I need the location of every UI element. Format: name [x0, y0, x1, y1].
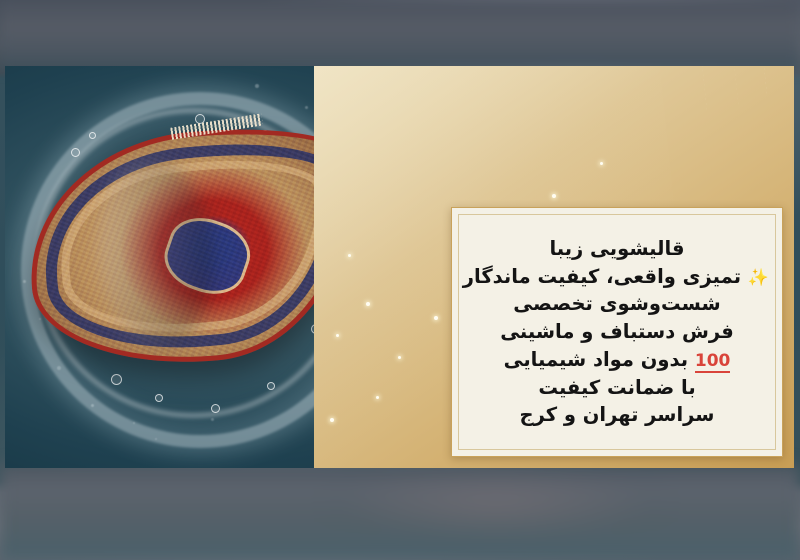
ad-guarantee-text: با ضمانت کیفیت: [538, 376, 695, 399]
ad-types-text: فرش دستباف و ماشینی: [500, 320, 734, 343]
ad-tagline-text: تمیزی واقعی، کیفیت ماندگار: [463, 265, 741, 288]
ad-line-tagline: ✨ تمیزی واقعی، کیفیت ماندگار: [465, 263, 769, 291]
ad-line-chemicals: 100 بدون مواد شیمیایی: [465, 346, 769, 374]
artwork-panel: قالیشویی زیبا ✨ تمیزی واقعی، کیفیت ماندگ…: [5, 66, 794, 468]
gold-sparkle: [600, 162, 603, 165]
gold-sparkle: [552, 194, 556, 198]
ad-line-guarantee: با ضمانت کیفیت: [465, 374, 769, 402]
advertisement-screenshot: قالیشویی زیبا ✨ تمیزی واقعی، کیفیت ماندگ…: [0, 0, 800, 560]
ad-line-coverage: سراسر تهران و کرج: [465, 401, 769, 429]
ad-line-service: شست‌وشوی تخصصی: [465, 290, 769, 318]
backdrop-bottom-band: [0, 464, 800, 560]
sparkles-icon: ✨: [748, 268, 769, 288]
hundred-points-icon: 100: [695, 351, 731, 373]
ad-line-headline: قالیشویی زیبا: [465, 235, 769, 263]
carpet-stage: [15, 74, 395, 464]
ad-text-card-inner-border: قالیشویی زیبا ✨ تمیزی واقعی، کیفیت ماندگ…: [458, 214, 776, 450]
ad-text-card: قالیشویی زیبا ✨ تمیزی واقعی، کیفیت ماندگ…: [451, 207, 783, 457]
ad-service-text: شست‌وشوی تخصصی: [513, 292, 720, 315]
ad-line-types: فرش دستباف و ماشینی: [465, 318, 769, 346]
ad-chemicals-text: بدون مواد شیمیایی: [504, 348, 688, 371]
gold-sparkle: [434, 316, 438, 320]
gold-sparkle: [398, 356, 401, 359]
persian-carpet: [20, 118, 369, 376]
ad-copy: قالیشویی زیبا ✨ تمیزی واقعی، کیفیت ماندگ…: [459, 235, 775, 429]
ad-coverage-text: سراسر تهران و کرج: [520, 403, 715, 426]
backdrop-top-band: [0, 0, 800, 70]
carpet-surface: [20, 118, 369, 376]
ad-headline-text: قالیشویی زیبا: [549, 237, 684, 260]
